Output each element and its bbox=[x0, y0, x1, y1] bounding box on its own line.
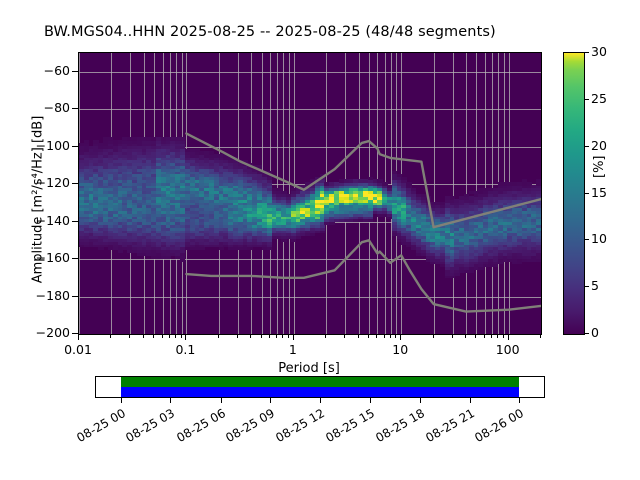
x-tick-label: 0.01 bbox=[64, 342, 92, 357]
x-tick-minor bbox=[153, 334, 154, 338]
timeline-tick-label: 08-26 00 bbox=[466, 406, 527, 449]
timeline-tick bbox=[170, 398, 171, 403]
ppsd-figure: BW.MGS04..HHN 2025-08-25 -- 2025-08-25 (… bbox=[0, 0, 640, 480]
x-tick-label: 10 bbox=[392, 342, 408, 357]
timeline-bar-psd-segments bbox=[121, 387, 520, 397]
colorbar-tick-label: 0 bbox=[591, 325, 599, 340]
noise-model-curves bbox=[79, 53, 541, 334]
timeline-tick bbox=[121, 398, 122, 403]
y-axis-label: Amplitude [m²/s⁴/Hz] [dB] bbox=[31, 70, 46, 330]
timeline-tick-label: 08-25 15 bbox=[316, 406, 377, 449]
timeline-tick-label: 08-25 06 bbox=[167, 406, 228, 449]
y-tick bbox=[72, 221, 78, 222]
timeline-tick bbox=[519, 398, 520, 403]
y-tick bbox=[72, 183, 78, 184]
x-tick-label: 100 bbox=[496, 342, 520, 357]
timeline-bar-data-coverage bbox=[121, 377, 520, 387]
colorbar-label: [%] bbox=[592, 156, 607, 179]
x-tick-minor bbox=[261, 334, 262, 338]
x-tick-minor bbox=[110, 334, 111, 338]
colorbar-tick bbox=[584, 99, 589, 100]
x-tick-major bbox=[508, 334, 509, 340]
x-tick-minor bbox=[540, 334, 541, 338]
ppsd-axes[interactable] bbox=[78, 52, 542, 335]
y-tick bbox=[72, 296, 78, 297]
colorbar-tick bbox=[584, 146, 589, 147]
x-axis-label: Period [s] bbox=[78, 361, 540, 376]
timeline-axes[interactable] bbox=[95, 376, 545, 398]
colorbar-tick-label: 10 bbox=[591, 231, 607, 246]
timeline-tick-label: 08-25 00 bbox=[67, 406, 128, 449]
colorbar-tick bbox=[584, 333, 589, 334]
timeline-tick bbox=[420, 398, 421, 403]
timeline-tick-label: 08-25 18 bbox=[366, 406, 427, 449]
colorbar bbox=[563, 52, 585, 335]
x-tick-minor bbox=[175, 334, 176, 338]
x-tick-minor bbox=[475, 334, 476, 338]
x-tick-minor bbox=[497, 334, 498, 338]
colorbar-tick-label: 30 bbox=[591, 44, 607, 59]
colorbar-tick-label: 15 bbox=[591, 185, 607, 200]
x-tick-major bbox=[78, 334, 79, 340]
timeline-tick bbox=[470, 398, 471, 403]
x-tick-minor bbox=[395, 334, 396, 338]
colorbar-tick-label: 20 bbox=[591, 138, 607, 153]
timeline-tick-label: 08-25 12 bbox=[266, 406, 327, 449]
x-tick-minor bbox=[484, 334, 485, 338]
x-tick-minor bbox=[218, 334, 219, 338]
timeline-tick bbox=[320, 398, 321, 403]
x-tick-minor bbox=[433, 334, 434, 338]
timeline-tick-label: 08-25 03 bbox=[117, 406, 178, 449]
x-tick-minor bbox=[237, 334, 238, 338]
y-tick-label: −80 bbox=[44, 100, 70, 115]
x-tick-minor bbox=[368, 334, 369, 338]
timeline-tick bbox=[370, 398, 371, 403]
x-tick-minor bbox=[276, 334, 277, 338]
x-tick-minor bbox=[169, 334, 170, 338]
colorbar-tick bbox=[584, 286, 589, 287]
timeline-tick-label: 08-25 09 bbox=[217, 406, 278, 449]
colorbar-tick bbox=[584, 193, 589, 194]
x-tick-minor bbox=[288, 334, 289, 338]
noise-model-nlnm bbox=[186, 240, 541, 311]
x-tick-minor bbox=[282, 334, 283, 338]
colorbar-tick bbox=[584, 239, 589, 240]
y-tick bbox=[72, 258, 78, 259]
x-tick-minor bbox=[250, 334, 251, 338]
timeline-tick bbox=[221, 398, 222, 403]
colorbar-tick-label: 5 bbox=[591, 278, 599, 293]
x-tick-minor bbox=[384, 334, 385, 338]
x-tick-minor bbox=[491, 334, 492, 338]
timeline-tick-label: 08-25 21 bbox=[416, 406, 477, 449]
x-tick-minor bbox=[129, 334, 130, 338]
ppsd-plot-area bbox=[79, 53, 541, 334]
x-tick-minor bbox=[503, 334, 504, 338]
x-tick-label: 1 bbox=[289, 342, 297, 357]
x-tick-minor bbox=[390, 334, 391, 338]
y-tick-label: −60 bbox=[44, 63, 70, 78]
x-tick-minor bbox=[358, 334, 359, 338]
timeline-tick bbox=[270, 398, 271, 403]
x-tick-major bbox=[185, 334, 186, 340]
y-tick bbox=[72, 146, 78, 147]
y-tick bbox=[72, 108, 78, 109]
colorbar-tick bbox=[584, 52, 589, 53]
x-tick-minor bbox=[162, 334, 163, 338]
x-tick-minor bbox=[143, 334, 144, 338]
y-tick bbox=[72, 71, 78, 72]
x-tick-minor bbox=[325, 334, 326, 338]
colorbar-tick-label: 25 bbox=[591, 91, 607, 106]
x-tick-minor bbox=[465, 334, 466, 338]
x-tick-major bbox=[293, 334, 294, 340]
x-tick-minor bbox=[452, 334, 453, 338]
x-tick-major bbox=[400, 334, 401, 340]
noise-model-nhnm bbox=[186, 134, 541, 228]
x-tick-minor bbox=[269, 334, 270, 338]
x-tick-minor bbox=[181, 334, 182, 338]
x-tick-label: 0.1 bbox=[175, 342, 195, 357]
x-tick-minor bbox=[344, 334, 345, 338]
figure-title: BW.MGS04..HHN 2025-08-25 -- 2025-08-25 (… bbox=[44, 24, 496, 40]
x-tick-minor bbox=[376, 334, 377, 338]
